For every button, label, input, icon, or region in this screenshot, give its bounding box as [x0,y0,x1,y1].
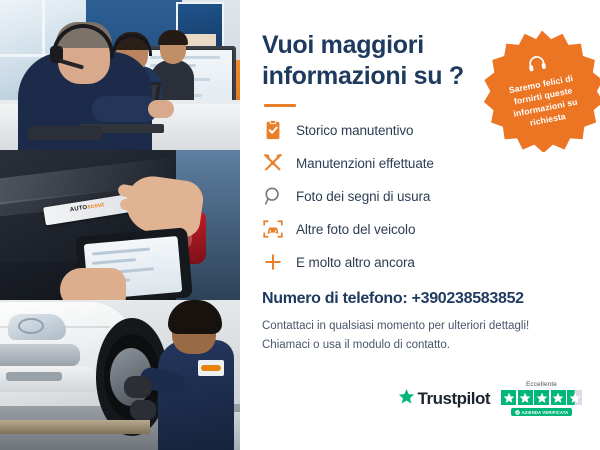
list-item: E molto altro ancora [262,251,578,273]
call-center-agents-photo [0,0,240,150]
trustpilot-name: Trustpilot [418,389,490,409]
car-scan-icon [262,218,284,240]
star-half [567,390,582,405]
list-item-label: Storico manutentivo [296,123,413,138]
promo-banner: AUTOscout [0,0,600,450]
star-filled [534,390,549,405]
headset-icon [525,52,549,77]
list-item: Altre foto del veicolo [262,218,578,240]
verified-company-badge: AZIENDA VERIFICATA [511,408,573,416]
check-circle-icon [515,410,520,415]
list-item-label: E molto altro ancora [296,255,415,270]
list-item-label: Altre foto del veicolo [296,222,415,237]
headline-line-1: Vuoi maggiori [262,31,424,59]
trustpilot-rating: Eccellente [501,381,582,416]
star-filled [518,390,533,405]
verified-company-label: AZIENDA VERIFICATA [522,410,569,415]
photo-strip: AUTOscout [0,0,240,450]
list-item: Foto dei segni di usura [262,185,578,207]
contact-subtext: Contattaci in qualsiasi momento per ulte… [262,317,578,355]
plus-icon [262,251,284,273]
star-filled [551,390,566,405]
list-item-label: Foto dei segni di usura [296,189,430,204]
contact-subtext-line-2: Chiamaci o usa il modulo di contatto. [262,339,450,351]
clipboard-check-icon [262,119,284,141]
star-filled [501,390,516,405]
trustpilot-stars [501,390,582,405]
content-panel: Vuoi maggiori informazioni su ? Storico … [240,0,600,450]
trustpilot-rating-label: Eccellente [526,381,557,388]
callout-badge: Saremo felici di fornirti queste informa… [480,28,600,152]
trustpilot-star-icon [398,388,415,410]
callout-badge-text: Saremo felici di fornirti queste informa… [479,66,600,138]
phone-number[interactable]: Numero di telefono: +390238583852 [262,290,578,308]
trustpilot-logo: Trustpilot [398,388,490,410]
headline-line-2: informazioni su ? [262,62,464,90]
list-item-label: Manutenzioni effettuate [296,156,434,171]
contact-subtext-line-1: Contattaci in qualsiasi momento per ulte… [262,320,529,332]
title-divider [264,104,296,107]
trustpilot-widget[interactable]: Trustpilot Eccellente [398,381,582,416]
mechanic-wheel-inspection-photo [0,300,240,450]
magnifier-icon [262,185,284,207]
tools-cross-icon [262,152,284,174]
vehicle-damage-inspection-photo: AUTOscout [0,150,240,300]
